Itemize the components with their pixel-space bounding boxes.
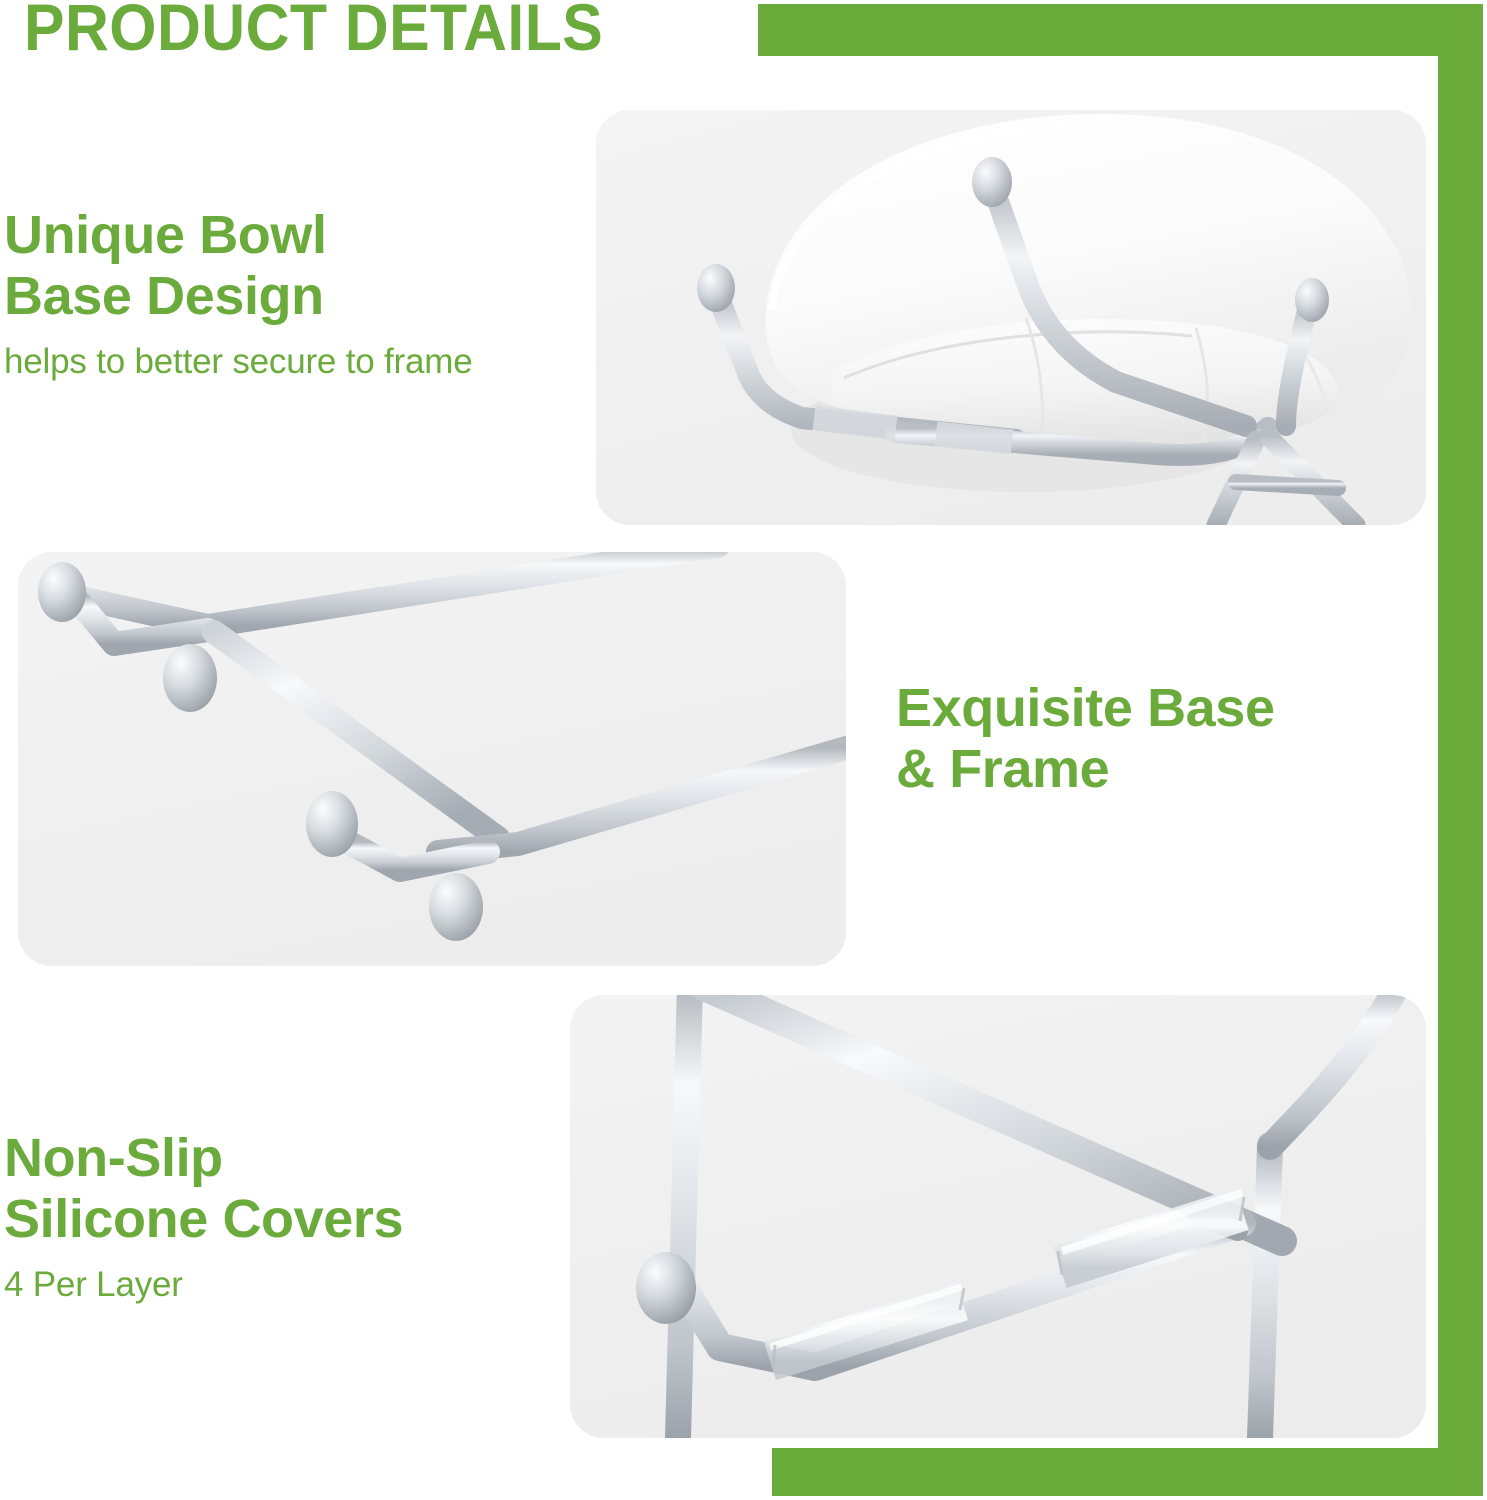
silicone-cover-illustration xyxy=(570,995,1426,1438)
feature-subtitle-non-slip-silicone-covers: 4 Per Layer xyxy=(4,1264,604,1306)
feature-subtitle-unique-bowl-base-design: helps to better secure to frame xyxy=(4,341,604,383)
metal-frame-illustration xyxy=(18,552,846,966)
frame-bar-right xyxy=(1438,4,1483,1496)
photo-silicone-cover-closeup xyxy=(570,995,1426,1438)
feature-block-non-slip-silicone-covers: Non-Slip Silicone Covers 4 Per Layer xyxy=(4,1128,604,1306)
feature-title-unique-bowl-base-design: Unique Bowl Base Design xyxy=(4,205,604,327)
frame-bar-bottom xyxy=(772,1448,1483,1496)
frame-bar-top xyxy=(758,4,1483,56)
feature-title-non-slip-silicone-covers: Non-Slip Silicone Covers xyxy=(4,1128,604,1250)
feature-title-exquisite-base-and-frame: Exquisite Base & Frame xyxy=(896,678,1416,800)
bowl-in-frame-illustration xyxy=(596,110,1426,525)
photo-metal-frame-closeup xyxy=(18,552,846,966)
page-title: PRODUCT DETAILS xyxy=(24,0,603,60)
feature-block-unique-bowl-base-design: Unique Bowl Base Design helps to better … xyxy=(4,205,604,383)
feature-block-exquisite-base-and-frame: Exquisite Base & Frame xyxy=(896,678,1416,814)
photo-bowl-in-frame-closeup xyxy=(596,110,1426,525)
